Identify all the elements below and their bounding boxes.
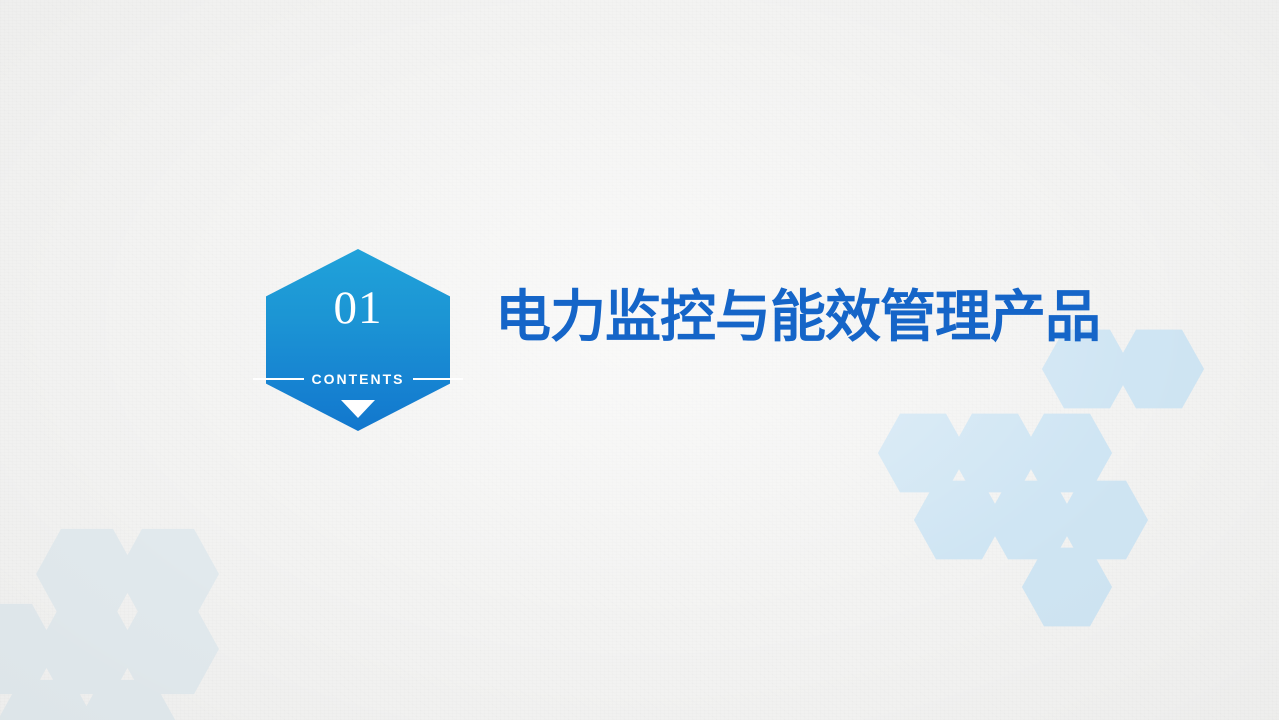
hexagon-cell (116, 527, 220, 621)
section-badge[interactable]: 01 CONTENTS (266, 249, 450, 431)
triangle-down-icon (341, 400, 375, 418)
hexagon-cell (116, 602, 220, 696)
rule-line-right (413, 378, 464, 380)
badge-caption-label: CONTENTS (304, 372, 413, 386)
badge-caption-rule: CONTENTS (253, 371, 463, 387)
hexagon-cell (0, 602, 58, 696)
hexagon-cell (1057, 479, 1149, 561)
rule-line-left (253, 378, 304, 380)
background-texture (0, 0, 1279, 720)
hexagon-cell (35, 527, 139, 621)
hexagon-cell (35, 602, 139, 696)
hexagon-cell (1021, 546, 1113, 628)
page-title: 电力监控与能效管理产品 (495, 288, 1100, 346)
background-vignette (0, 0, 1279, 720)
hexagon-cell (949, 412, 1041, 494)
hexagon-cell (0, 678, 98, 720)
hexagon-cell (1113, 328, 1205, 410)
hexagon-cell (985, 479, 1077, 561)
hexagon-cell (75, 678, 179, 720)
hexagon-cell (913, 479, 1005, 561)
hexagon-cell (1021, 412, 1113, 494)
slide-canvas: 01 CONTENTS 电力监控与能效管理产品 (0, 0, 1279, 720)
section-number: 01 (266, 285, 450, 332)
hexagon-cell (877, 412, 969, 494)
